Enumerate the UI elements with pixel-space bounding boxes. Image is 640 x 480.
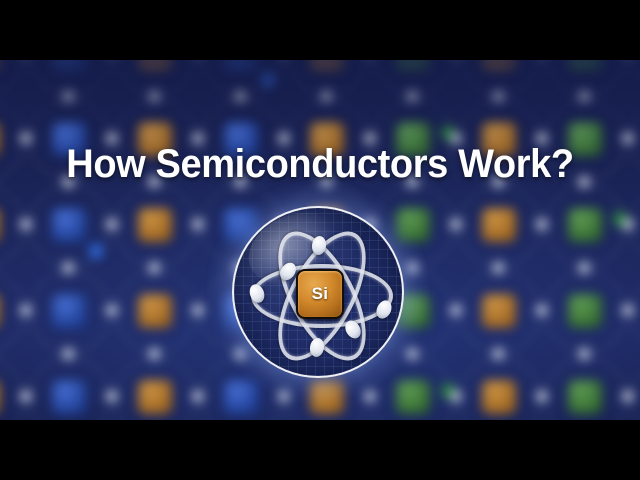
lattice-atom-core [52, 208, 86, 242]
lattice-electron [623, 219, 634, 230]
lattice-electron [149, 263, 160, 274]
letterbox-bar-bottom [0, 420, 640, 480]
lattice-electron [63, 263, 74, 274]
lattice-orbit-ring [0, 60, 25, 95]
lattice-electron [537, 219, 548, 230]
lattice-atom-core [482, 208, 516, 242]
lattice-atom [456, 268, 542, 354]
video-thumbnail: Si How Semiconductors Work? [0, 0, 640, 480]
atom-sphere: Si [232, 206, 404, 378]
lattice-atom-core [568, 60, 602, 70]
lattice-atom-core [224, 60, 258, 70]
lattice-electron [579, 263, 590, 274]
lattice-atom [26, 268, 112, 354]
lattice-atom-core [224, 380, 258, 414]
lattice-electron [235, 91, 246, 102]
lattice-atom-core [138, 294, 172, 328]
lattice-atom-core [52, 60, 86, 70]
lattice-atom [542, 182, 628, 268]
lattice-orbit-ring [631, 357, 640, 420]
lattice-electron [451, 219, 462, 230]
lattice-atom [456, 354, 542, 420]
lattice-electron [537, 305, 548, 316]
lattice-electron [407, 91, 418, 102]
lattice-atom [112, 354, 198, 420]
lattice-electron [193, 305, 204, 316]
lattice-atom [112, 268, 198, 354]
lattice-electron [107, 391, 118, 402]
lattice-atom-core [568, 380, 602, 414]
lattice-atom-core [482, 60, 516, 70]
lattice-electron [493, 91, 504, 102]
silicon-nucleus: Si [296, 269, 344, 319]
lattice-electron [579, 91, 590, 102]
lattice-electron [21, 305, 32, 316]
lattice-electron [63, 349, 74, 360]
lattice-orbit-ring [631, 60, 640, 95]
lattice-atom-core [482, 380, 516, 414]
lattice-electron [149, 349, 160, 360]
lattice-electron [21, 391, 32, 402]
lattice-atom-core [52, 294, 86, 328]
lattice-atom [542, 354, 628, 420]
lattice-atom-core [396, 60, 430, 70]
lattice-atom [26, 182, 112, 268]
lattice-electron [107, 219, 118, 230]
lattice-atom-core [310, 60, 344, 70]
lattice-electron [493, 349, 504, 360]
lattice-electron [579, 349, 590, 360]
lattice-atom [628, 354, 640, 420]
lattice-atom [0, 60, 26, 96]
lattice-electron [537, 391, 548, 402]
lattice-atom-core [138, 380, 172, 414]
lattice-electron [451, 305, 462, 316]
lattice-atom [628, 182, 640, 268]
lattice-atom [628, 268, 640, 354]
lattice-electron [107, 305, 118, 316]
lattice-electron [193, 391, 204, 402]
lattice-atom [0, 354, 26, 420]
lattice-electron [493, 263, 504, 274]
lattice-atom-core [482, 294, 516, 328]
lattice-atom-core [138, 208, 172, 242]
lattice-atom [26, 354, 112, 420]
lattice-orbit-ring [0, 357, 25, 420]
lattice-atom-core [568, 294, 602, 328]
lattice-atom [542, 268, 628, 354]
lattice-electron [321, 91, 332, 102]
lattice-electron [63, 91, 74, 102]
lattice-electron [21, 219, 32, 230]
lattice-atom-core [568, 208, 602, 242]
lattice-atom [628, 60, 640, 96]
lattice-atom [112, 182, 198, 268]
nucleus-label: Si [312, 284, 329, 304]
lattice-electron [623, 133, 634, 144]
free-carrier-spark [262, 72, 274, 86]
lattice-electron [623, 305, 634, 316]
lattice-electron [193, 219, 204, 230]
silicon-atom-illustration: Si [232, 206, 404, 378]
lattice-atom-core [52, 380, 86, 414]
lattice-atom-core [138, 60, 172, 70]
page-title: How Semiconductors Work? [16, 142, 624, 187]
lattice-electron [149, 91, 160, 102]
lattice-atom [628, 96, 640, 182]
letterbox-bar-top [0, 0, 640, 60]
free-carrier-spark [90, 244, 102, 258]
video-content-area: Si How Semiconductors Work? [0, 60, 640, 420]
lattice-atom-core [396, 380, 430, 414]
lattice-electron [623, 391, 634, 402]
lattice-atom [456, 182, 542, 268]
lattice-electron [451, 391, 462, 402]
